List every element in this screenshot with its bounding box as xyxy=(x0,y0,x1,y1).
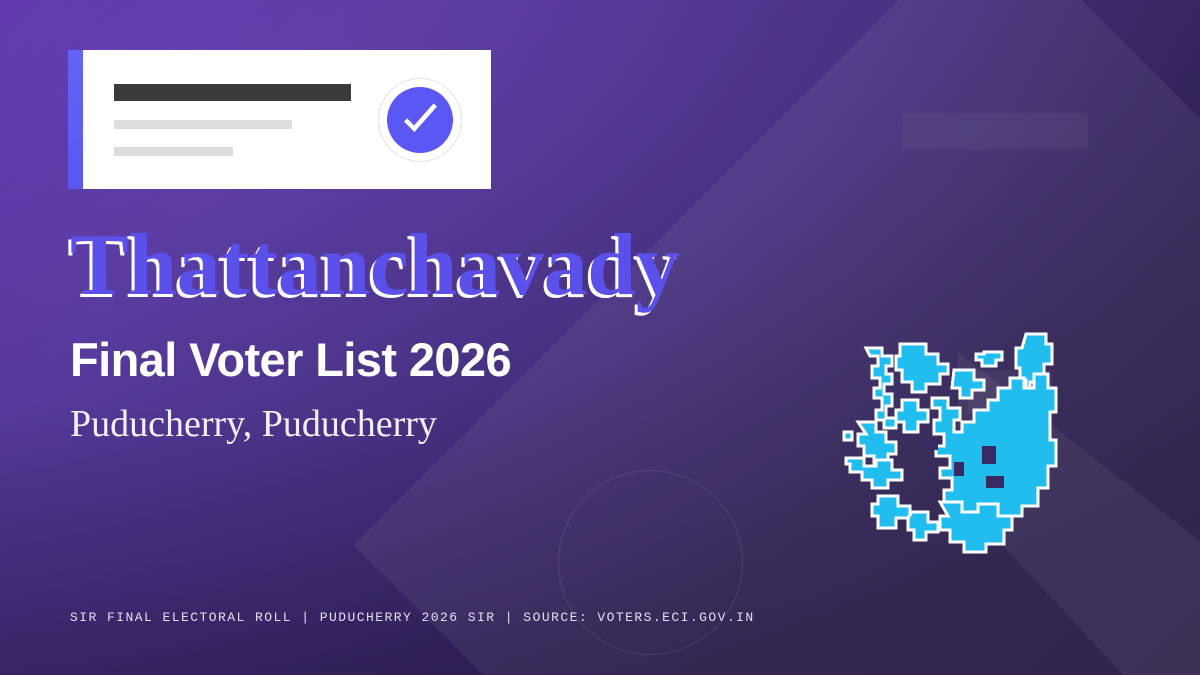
footer-source-line: SIR FINAL ELECTORAL ROLL | PUDUCHERRY 20… xyxy=(70,610,755,625)
card-title-bar xyxy=(114,84,351,101)
card-detail-bar-1 xyxy=(114,120,292,129)
card-accent-bar xyxy=(68,50,83,189)
puducherry-constituency-map xyxy=(836,326,1088,570)
decor-circle-outline xyxy=(558,470,743,655)
card-detail-bar-2 xyxy=(114,147,233,156)
page-location: Puducherry, Puducherry xyxy=(70,402,437,448)
verified-document-card xyxy=(68,50,491,189)
page-subtitle: Final Voter List 2026 xyxy=(70,334,511,386)
check-circle-icon xyxy=(378,78,462,162)
card-body xyxy=(83,50,491,189)
page-title: Thattanchavady xyxy=(70,224,679,308)
badge-disc xyxy=(387,87,453,153)
decor-rect-top-right xyxy=(903,113,1088,149)
poster-canvas: Thattanchavady Final Voter List 2026 Pud… xyxy=(0,0,1200,675)
